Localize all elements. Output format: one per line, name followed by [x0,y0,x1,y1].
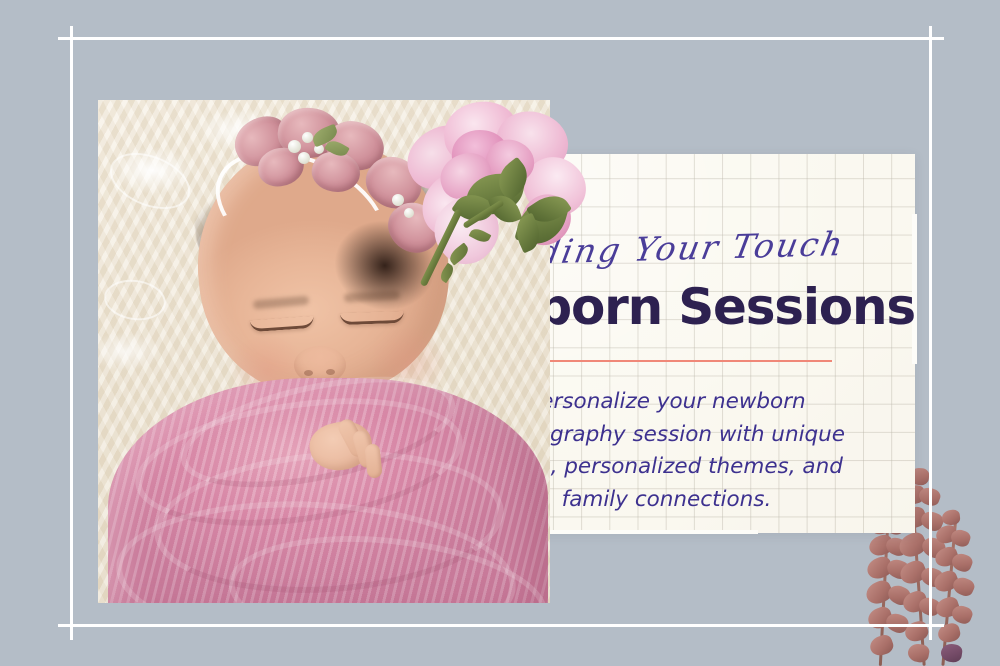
frame-line-left [70,26,73,640]
frame-line-top [58,37,944,40]
lavender-sprig-3 [924,510,980,666]
frame-line-bottom [58,624,944,627]
frame-line-right [929,26,932,640]
baby-eye-right [340,311,404,325]
rose-flower-icon [404,98,584,283]
pink-swaddle-wrap [108,378,548,603]
title-divider [502,360,832,362]
poster-canvas: Adding Your Touch Newborn Sessions Perso… [0,0,1000,666]
